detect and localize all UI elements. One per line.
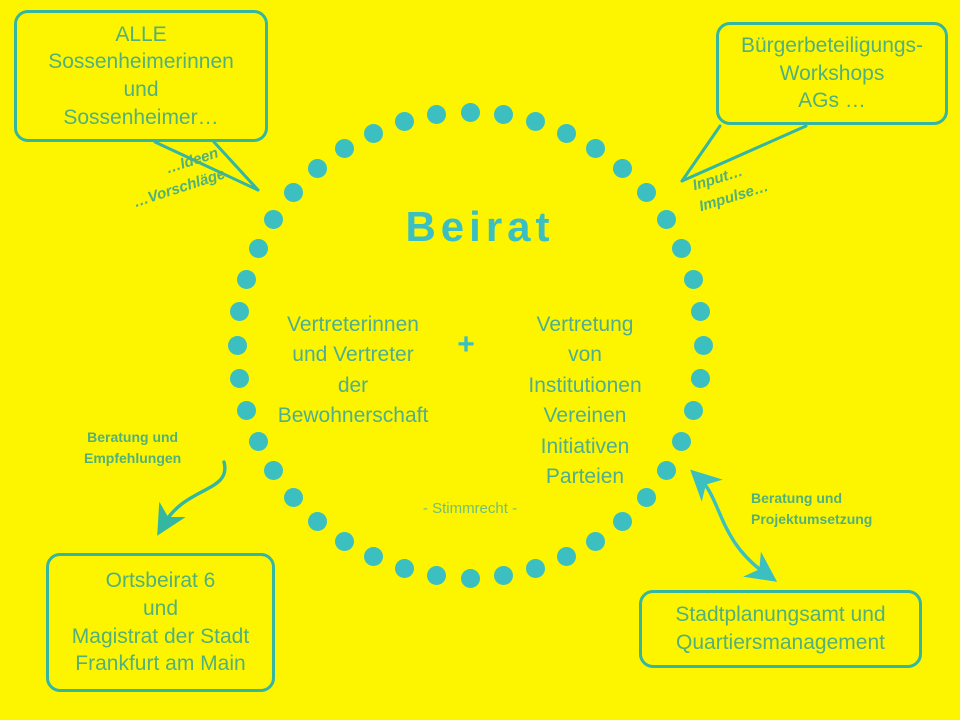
ring-dot	[637, 183, 656, 202]
annotation-beratung-empfehlungen: Beratung und Empfehlungen	[84, 427, 181, 469]
bubble-workshops-text: Bürgerbeteiligungs-WorkshopsAGs …	[719, 32, 945, 115]
text-line: Vertreterinnen	[258, 310, 448, 340]
text-line: Workshops	[719, 60, 945, 88]
text-line: AGs …	[719, 87, 945, 115]
ring-dot	[694, 336, 713, 355]
text-line: Vertretung	[490, 310, 680, 340]
annotation-beratung-empfehlungen-line1: Beratung und	[84, 427, 181, 448]
ring-dot	[284, 488, 303, 507]
text-line: Bürgerbeteiligungs-	[719, 32, 945, 60]
text-line: Stadtplanungsamt und	[642, 601, 919, 629]
text-line: Vereinen	[490, 401, 680, 431]
column-institutions: VertretungvonInstitutionenVereinenInitia…	[490, 310, 680, 493]
footnote-stimmrecht: - Stimmrecht -	[370, 500, 570, 517]
ring-dot	[364, 124, 383, 143]
ring-dot	[461, 103, 480, 122]
ring-dot	[249, 432, 268, 451]
text-line: Sossenheimerinnen	[17, 48, 265, 76]
ring-dot	[494, 566, 513, 585]
ring-dot	[526, 112, 545, 131]
box-stadtplanungsamt[interactable]: Stadtplanungsamt undQuartiersmanagement	[639, 590, 922, 668]
text-line: Parteien	[490, 462, 680, 492]
ring-dot	[335, 139, 354, 158]
box-ortsbeirat-text: Ortsbeirat 6undMagistrat der StadtFrankf…	[49, 567, 272, 678]
annotation-beratung-projektumsetzung-line1: Beratung und	[751, 488, 872, 509]
ring-dot	[228, 336, 247, 355]
ring-dot	[586, 139, 605, 158]
text-line: Initiativen	[490, 432, 680, 462]
ring-dot	[237, 270, 256, 289]
bubble-all-citizens-text: ALLESossenheimerinnenundSossenheimer…	[17, 21, 265, 132]
ring-dot	[684, 401, 703, 420]
column-residents: Vertreterinnenund VertreterderBewohnersc…	[258, 310, 448, 432]
text-line: und Vertreter	[258, 340, 448, 370]
text-line: Institutionen	[490, 371, 680, 401]
annotation-beratung-projektumsetzung-line2: Projektumsetzung	[751, 509, 872, 530]
ring-dot	[526, 559, 545, 578]
text-line: ALLE	[17, 21, 265, 49]
ring-dot	[691, 369, 710, 388]
ring-dot	[237, 401, 256, 420]
ring-dot	[461, 569, 480, 588]
bubble-all-citizens[interactable]: ALLESossenheimerinnenundSossenheimer…	[14, 10, 268, 142]
ring-dot	[335, 532, 354, 551]
diagram-canvas: ALLESossenheimerinnenundSossenheimer… Bü…	[0, 0, 960, 720]
text-line: Quartiersmanagement	[642, 629, 919, 657]
ring-dot	[613, 512, 632, 531]
ring-dot	[284, 183, 303, 202]
ring-dot	[427, 105, 446, 124]
box-stadtplanungsamt-text: Stadtplanungsamt undQuartiersmanagement	[642, 601, 919, 656]
annotation-beratung-projektumsetzung: Beratung und Projektumsetzung	[751, 488, 872, 530]
plus-icon: +	[448, 330, 484, 360]
text-line: Ortsbeirat 6	[49, 567, 272, 595]
ring-dot	[308, 159, 327, 178]
text-line: Magistrat der Stadt	[49, 623, 272, 651]
text-line: von	[490, 340, 680, 370]
ring-dot	[395, 112, 414, 131]
ring-dot	[557, 124, 576, 143]
ring-dot	[557, 547, 576, 566]
ring-dot	[230, 302, 249, 321]
ring-dot	[264, 461, 283, 480]
text-line: und	[17, 76, 265, 104]
ring-dot	[613, 159, 632, 178]
ring-dot	[395, 559, 414, 578]
annotation-beratung-empfehlungen-line2: Empfehlungen	[84, 448, 181, 469]
ring-dot	[494, 105, 513, 124]
text-line: Bewohnerschaft	[258, 401, 448, 431]
bubble-workshops[interactable]: Bürgerbeteiligungs-WorkshopsAGs …	[716, 22, 948, 125]
text-line: Sossenheimer…	[17, 104, 265, 132]
ring-dot	[230, 369, 249, 388]
ring-dot	[586, 532, 605, 551]
text-line: Frankfurt am Main	[49, 650, 272, 678]
ring-dot	[364, 547, 383, 566]
ring-dot	[684, 270, 703, 289]
text-line: der	[258, 371, 448, 401]
text-line: und	[49, 595, 272, 623]
box-ortsbeirat[interactable]: Ortsbeirat 6undMagistrat der StadtFrankf…	[46, 553, 275, 692]
ring-dot	[308, 512, 327, 531]
ring-dot	[691, 302, 710, 321]
ring-dot	[427, 566, 446, 585]
